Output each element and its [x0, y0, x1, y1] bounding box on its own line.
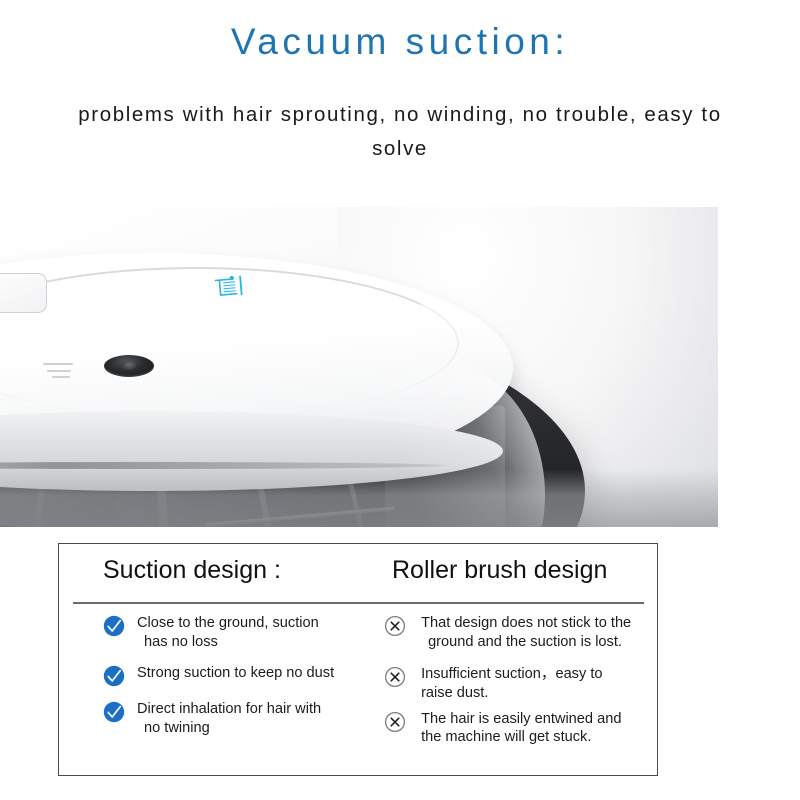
list-item-line2: ground and the suction is lost.	[421, 633, 631, 652]
power-button[interactable]	[104, 355, 154, 377]
list-item-line2: raise dust.	[421, 684, 602, 703]
list-item-text: The hair is easily entwined and the mach…	[421, 710, 621, 747]
list-item: That design does not stick to the ground…	[384, 614, 657, 651]
page-subtitle: problems with hair sprouting, no winding…	[78, 98, 722, 166]
photo-floor-shadow	[0, 469, 718, 527]
sensor-panel	[0, 273, 47, 313]
header-divider	[73, 602, 644, 604]
list-item: Insufficient suction，easy to raise dust.	[384, 665, 657, 702]
list-item-line1: Close to the ground, suction	[137, 615, 319, 631]
list-item: Strong suction to keep no dust	[103, 664, 347, 687]
list-item-text: Direct inhalation for hair with no twini…	[137, 700, 321, 737]
list-item: The hair is easily entwined and the mach…	[384, 710, 657, 747]
list-item-line1: The hair is easily entwined and	[421, 711, 621, 727]
list-item: Direct inhalation for hair with no twini…	[103, 700, 347, 737]
list-item-line2: has no loss	[137, 633, 319, 652]
suction-design-column: Close to the ground, suction has no loss…	[59, 614, 347, 760]
x-circle-icon	[384, 666, 406, 688]
brand-logo-icon	[211, 271, 255, 303]
list-item-text: Insufficient suction，easy to raise dust.	[421, 665, 602, 702]
check-circle-icon	[103, 701, 125, 723]
roller-brush-design-column: That design does not stick to the ground…	[347, 614, 657, 760]
comparison-headers: Suction design : Roller brush design	[59, 544, 657, 602]
comparison-box: Suction design : Roller brush design Clo…	[58, 543, 658, 776]
x-circle-icon	[384, 711, 406, 733]
list-item-line1: That design does not stick to the	[421, 615, 631, 631]
list-item-line1: Direct inhalation for hair with	[137, 701, 321, 717]
x-circle-icon	[384, 615, 406, 637]
check-circle-icon	[103, 615, 125, 637]
lid-vent-dashes	[43, 363, 83, 379]
list-item-line2: the machine will get stuck.	[421, 728, 621, 747]
page-title: Vacuum suction:	[0, 20, 800, 64]
list-item-line1: Insufficient suction，easy to	[421, 666, 602, 682]
list-item-line2: no twining	[137, 719, 321, 738]
list-item-text: Close to the ground, suction has no loss	[137, 614, 319, 651]
product-photo	[0, 207, 718, 527]
check-circle-icon	[103, 665, 125, 687]
list-item-text: Strong suction to keep no dust	[137, 664, 334, 683]
roller-brush-design-header: Roller brush design	[392, 556, 607, 585]
list-item-line1: Strong suction to keep no dust	[137, 665, 334, 681]
suction-design-header: Suction design :	[103, 556, 281, 585]
comparison-columns: Close to the ground, suction has no loss…	[59, 614, 657, 760]
list-item-text: That design does not stick to the ground…	[421, 614, 631, 651]
list-item: Close to the ground, suction has no loss	[103, 614, 347, 651]
